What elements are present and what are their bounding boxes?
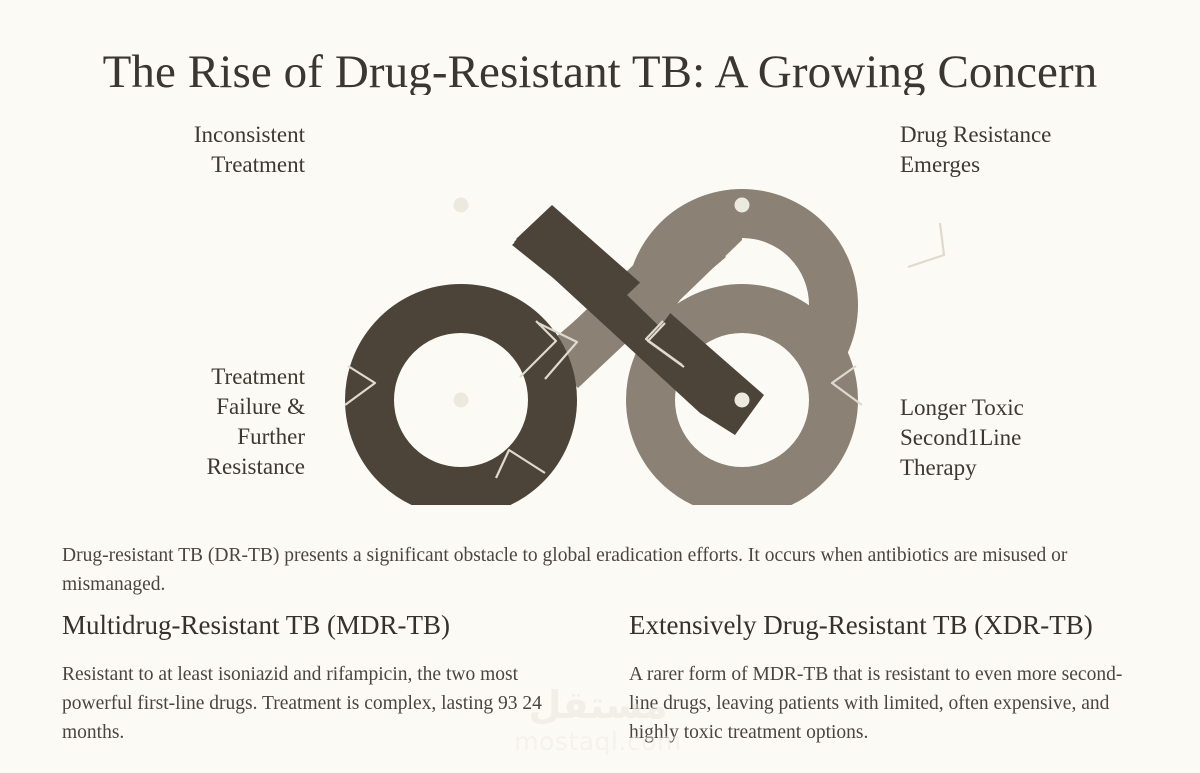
callout-drug-resistance-emerges: Drug Resistance Emerges [900,120,1180,180]
marker-treatment-failure [454,393,469,408]
marker-longer-toxic [735,393,750,408]
page-title: The Rise of Drug-Resistant TB: A Growing… [0,43,1200,101]
column-xdr-tb: Extensively Drug-Resistant TB (XDR-TB) A… [629,608,1138,747]
intro-paragraph: Drug-resistant TB (DR-TB) presents a sig… [62,541,1138,599]
column-body-xdr-tb: A rarer form of MDR-TB that is resistant… [629,660,1138,747]
callout-treatment-failure: Treatment Failure & Further Resistance [60,362,305,482]
column-heading-mdr-tb: Multidrug-Resistant TB (MDR-TB) [62,608,571,642]
callout-inconsistent-treatment: Inconsistent Treatment [60,120,305,180]
column-heading-xdr-tb: Extensively Drug-Resistant TB (XDR-TB) [629,608,1138,642]
callout-longer-toxic-therapy: Longer Toxic Second1Line Therapy [900,393,1180,483]
definition-columns: Multidrug-Resistant TB (MDR-TB) Resistan… [62,608,1138,747]
infographic-page: The Rise of Drug-Resistant TB: A Growing… [0,0,1200,773]
column-mdr-tb: Multidrug-Resistant TB (MDR-TB) Resistan… [62,608,571,747]
column-body-mdr-tb: Resistant to at least isoniazid and rifa… [62,660,571,747]
marker-drug-resistance [735,198,750,213]
marker-inconsistent-treatment [454,198,469,213]
